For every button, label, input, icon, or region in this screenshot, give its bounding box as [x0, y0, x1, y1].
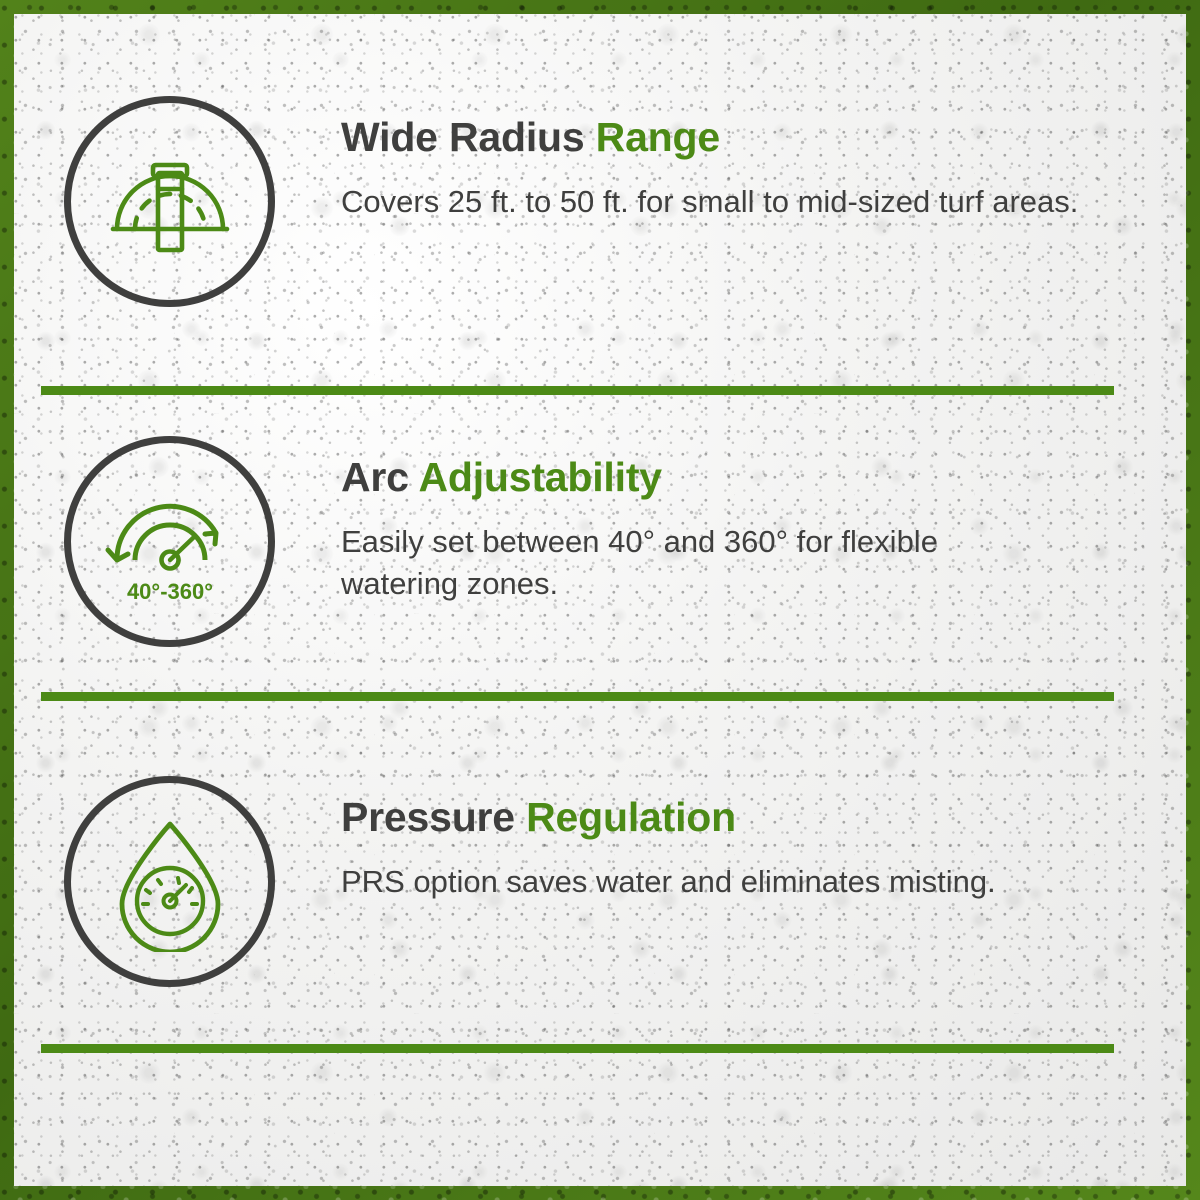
feature-title-2: Arc Adjustability [341, 456, 1155, 499]
feature-description-1: Covers 25 ft. to 50 ft. for small to mid… [341, 181, 1141, 223]
feature-row-wide-radius-range: Wide Radius Range Covers 25 ft. to 50 ft… [50, 96, 1155, 307]
feature-text-2: Arc Adjustability Easily set between 40°… [275, 436, 1155, 605]
icon-badge-1 [64, 96, 275, 307]
feature-title-3-dark: Pressure [341, 794, 515, 840]
feature-description-2: Easily set between 40° and 360° for flex… [341, 521, 981, 605]
infographic-poster: Wide Radius Range Covers 25 ft. to 50 ft… [0, 0, 1200, 1200]
feature-title-1-dark: Wide Radius [341, 114, 584, 160]
feature-text-3: Pressure Regulation PRS option saves wat… [275, 776, 1155, 903]
feature-title-3: Pressure Regulation [341, 796, 1155, 839]
arc-gauge-icon-label: 40°-360° [126, 579, 212, 604]
feature-text-1: Wide Radius Range Covers 25 ft. to 50 ft… [275, 96, 1155, 223]
divider-rule-3 [41, 1044, 1114, 1053]
feature-row-arc-adjustability: 40°-360° Arc Adjustability Easily set be… [50, 436, 1155, 647]
feature-title-1: Wide Radius Range [341, 116, 1155, 159]
icon-badge-3 [64, 776, 275, 987]
feature-title-2-accent: Adjustability [418, 454, 661, 500]
feature-title-3-accent: Regulation [526, 794, 736, 840]
sprinkler-spray-radius-icon [95, 137, 245, 267]
feature-description-3: PRS option saves water and eliminates mi… [341, 861, 1141, 903]
feature-list: Wide Radius Range Covers 25 ft. to 50 ft… [0, 0, 1200, 1200]
divider-rule-1 [41, 386, 1114, 395]
feature-title-2-dark: Arc [341, 454, 409, 500]
arc-gauge-icon: 40°-360° [95, 472, 245, 612]
feature-title-1-accent: Range [596, 114, 720, 160]
icon-badge-2: 40°-360° [64, 436, 275, 647]
water-droplet-pressure-gauge-icon [100, 812, 240, 952]
feature-row-pressure-regulation: Pressure Regulation PRS option saves wat… [50, 776, 1155, 987]
divider-rule-2 [41, 692, 1114, 701]
